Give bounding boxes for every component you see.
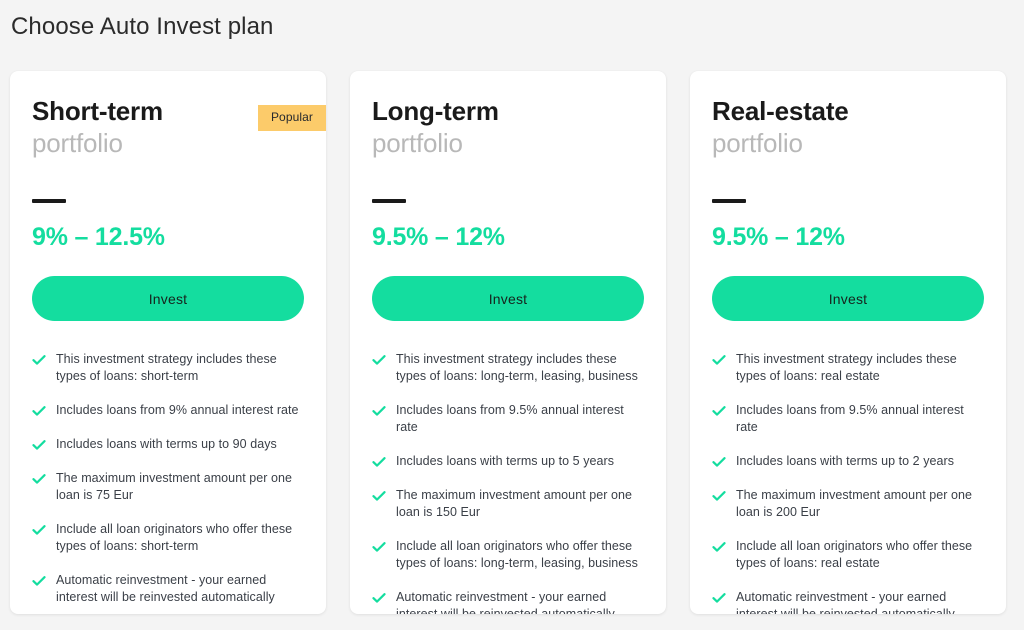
header-divider <box>372 199 406 203</box>
plan-card-body: Long-term portfolio 9.5% – 12% Invest Th… <box>350 71 666 614</box>
plan-header: Real-estate portfolio <box>712 95 984 183</box>
check-icon <box>32 404 46 418</box>
interest-rate-range: 9.5% – 12% <box>372 223 644 251</box>
check-icon <box>712 455 726 469</box>
invest-button[interactable]: Invest <box>712 276 984 321</box>
list-item: The maximum investment amount per one lo… <box>712 487 984 521</box>
plan-name: Real-estate <box>712 95 984 127</box>
check-icon <box>712 353 726 367</box>
feature-text: The maximum investment amount per one lo… <box>736 487 984 521</box>
page-title: Choose Auto Invest plan <box>11 13 273 41</box>
check-icon <box>372 540 386 554</box>
feature-text: This investment strategy includes these … <box>736 351 984 385</box>
plan-card-short-term[interactable]: Short-term portfolio Popular 9% – 12.5% … <box>10 71 326 614</box>
list-item: Automatic reinvestment - your earned int… <box>372 589 644 614</box>
feature-text: Include all loan originators who offer t… <box>396 538 644 572</box>
header-divider <box>712 199 746 203</box>
feature-text: Include all loan originators who offer t… <box>736 538 984 572</box>
plan-card-list: Short-term portfolio Popular 9% – 12.5% … <box>10 71 1006 614</box>
feature-text: Automatic reinvestment - your earned int… <box>396 589 644 614</box>
plan-card-real-estate[interactable]: Real-estate portfolio 9.5% – 12% Invest … <box>690 71 1006 614</box>
list-item: Includes loans from 9% annual interest r… <box>32 402 304 419</box>
plan-subtitle: portfolio <box>712 127 984 160</box>
list-item: Includes loans from 9.5% annual interest… <box>372 402 644 436</box>
interest-rate-range: 9.5% – 12% <box>712 223 984 251</box>
feature-text: Includes loans with terms up to 2 years <box>736 453 954 470</box>
auto-invest-plan-page: Choose Auto Invest plan Short-term portf… <box>0 0 1024 630</box>
list-item: Include all loan originators who offer t… <box>712 538 984 572</box>
list-item: This investment strategy includes these … <box>712 351 984 385</box>
list-item: Automatic reinvestment - your earned int… <box>712 589 984 614</box>
plan-subtitle: portfolio <box>32 127 304 160</box>
list-item: Include all loan originators who offer t… <box>372 538 644 572</box>
list-item: Includes loans with terms up to 90 days <box>32 436 304 453</box>
list-item: Include all loan originators who offer t… <box>32 521 304 555</box>
list-item: Includes loans with terms up to 2 years <box>712 453 984 470</box>
plan-card-body: Short-term portfolio Popular 9% – 12.5% … <box>10 71 326 606</box>
check-icon <box>372 591 386 605</box>
feature-text: This investment strategy includes these … <box>56 351 304 385</box>
plan-subtitle: portfolio <box>372 127 644 160</box>
check-icon <box>712 489 726 503</box>
list-item: The maximum investment amount per one lo… <box>372 487 644 521</box>
list-item: This investment strategy includes these … <box>32 351 304 385</box>
check-icon <box>372 404 386 418</box>
status-badge-popular: Popular <box>258 105 326 131</box>
plan-name: Long-term <box>372 95 644 127</box>
check-icon <box>712 540 726 554</box>
list-item: Includes loans with terms up to 5 years <box>372 453 644 470</box>
feature-text: Includes loans from 9.5% annual interest… <box>396 402 644 436</box>
check-icon <box>32 523 46 537</box>
feature-text: Includes loans with terms up to 5 years <box>396 453 614 470</box>
header-divider <box>32 199 66 203</box>
feature-text: This investment strategy includes these … <box>396 351 644 385</box>
check-icon <box>372 489 386 503</box>
feature-text: Automatic reinvestment - your earned int… <box>56 572 304 606</box>
feature-list: This investment strategy includes these … <box>372 351 644 614</box>
plan-header: Long-term portfolio <box>372 95 644 183</box>
check-icon <box>712 591 726 605</box>
feature-list: This investment strategy includes these … <box>32 351 304 606</box>
feature-text: Includes loans with terms up to 90 days <box>56 436 277 453</box>
check-icon <box>32 472 46 486</box>
check-icon <box>712 404 726 418</box>
feature-text: Includes loans from 9% annual interest r… <box>56 402 299 419</box>
invest-button[interactable]: Invest <box>372 276 644 321</box>
feature-list: This investment strategy includes these … <box>712 351 984 614</box>
check-icon <box>372 455 386 469</box>
check-icon <box>32 438 46 452</box>
check-icon <box>32 353 46 367</box>
list-item: Includes loans from 9.5% annual interest… <box>712 402 984 436</box>
feature-text: Automatic reinvestment - your earned int… <box>736 589 984 614</box>
feature-text: The maximum investment amount per one lo… <box>396 487 644 521</box>
interest-rate-range: 9% – 12.5% <box>32 223 304 251</box>
feature-text: The maximum investment amount per one lo… <box>56 470 304 504</box>
list-item: This investment strategy includes these … <box>372 351 644 385</box>
check-icon <box>32 574 46 588</box>
invest-button[interactable]: Invest <box>32 276 304 321</box>
check-icon <box>372 353 386 367</box>
plan-header: Short-term portfolio Popular <box>32 95 304 183</box>
list-item: Automatic reinvestment - your earned int… <box>32 572 304 606</box>
feature-text: Includes loans from 9.5% annual interest… <box>736 402 984 436</box>
list-item: The maximum investment amount per one lo… <box>32 470 304 504</box>
plan-card-body: Real-estate portfolio 9.5% – 12% Invest … <box>690 71 1006 614</box>
feature-text: Include all loan originators who offer t… <box>56 521 304 555</box>
plan-card-long-term[interactable]: Long-term portfolio 9.5% – 12% Invest Th… <box>350 71 666 614</box>
